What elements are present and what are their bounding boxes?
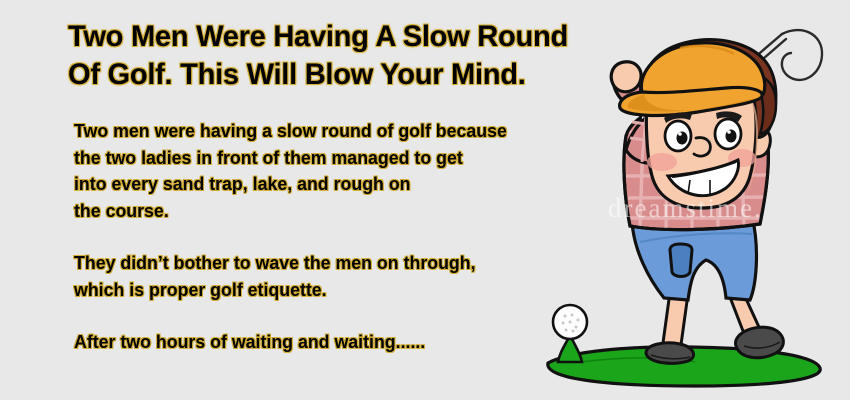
page-title: Two Men Were Having A Slow Round Of Golf… [68,18,611,94]
cap [620,43,765,116]
story-paragraph-1: Two men were having a slow round of golf… [74,118,612,224]
story-body: Two men were having a slow round of golf… [74,118,612,356]
meme-image: dreamstime. Two Men Were Having A Slow R… [0,0,850,400]
story-paragraph-2: They didn’t bother to wave the men on th… [74,250,612,303]
story-paragraph-3: After two hours of waiting and waiting..… [74,329,612,356]
